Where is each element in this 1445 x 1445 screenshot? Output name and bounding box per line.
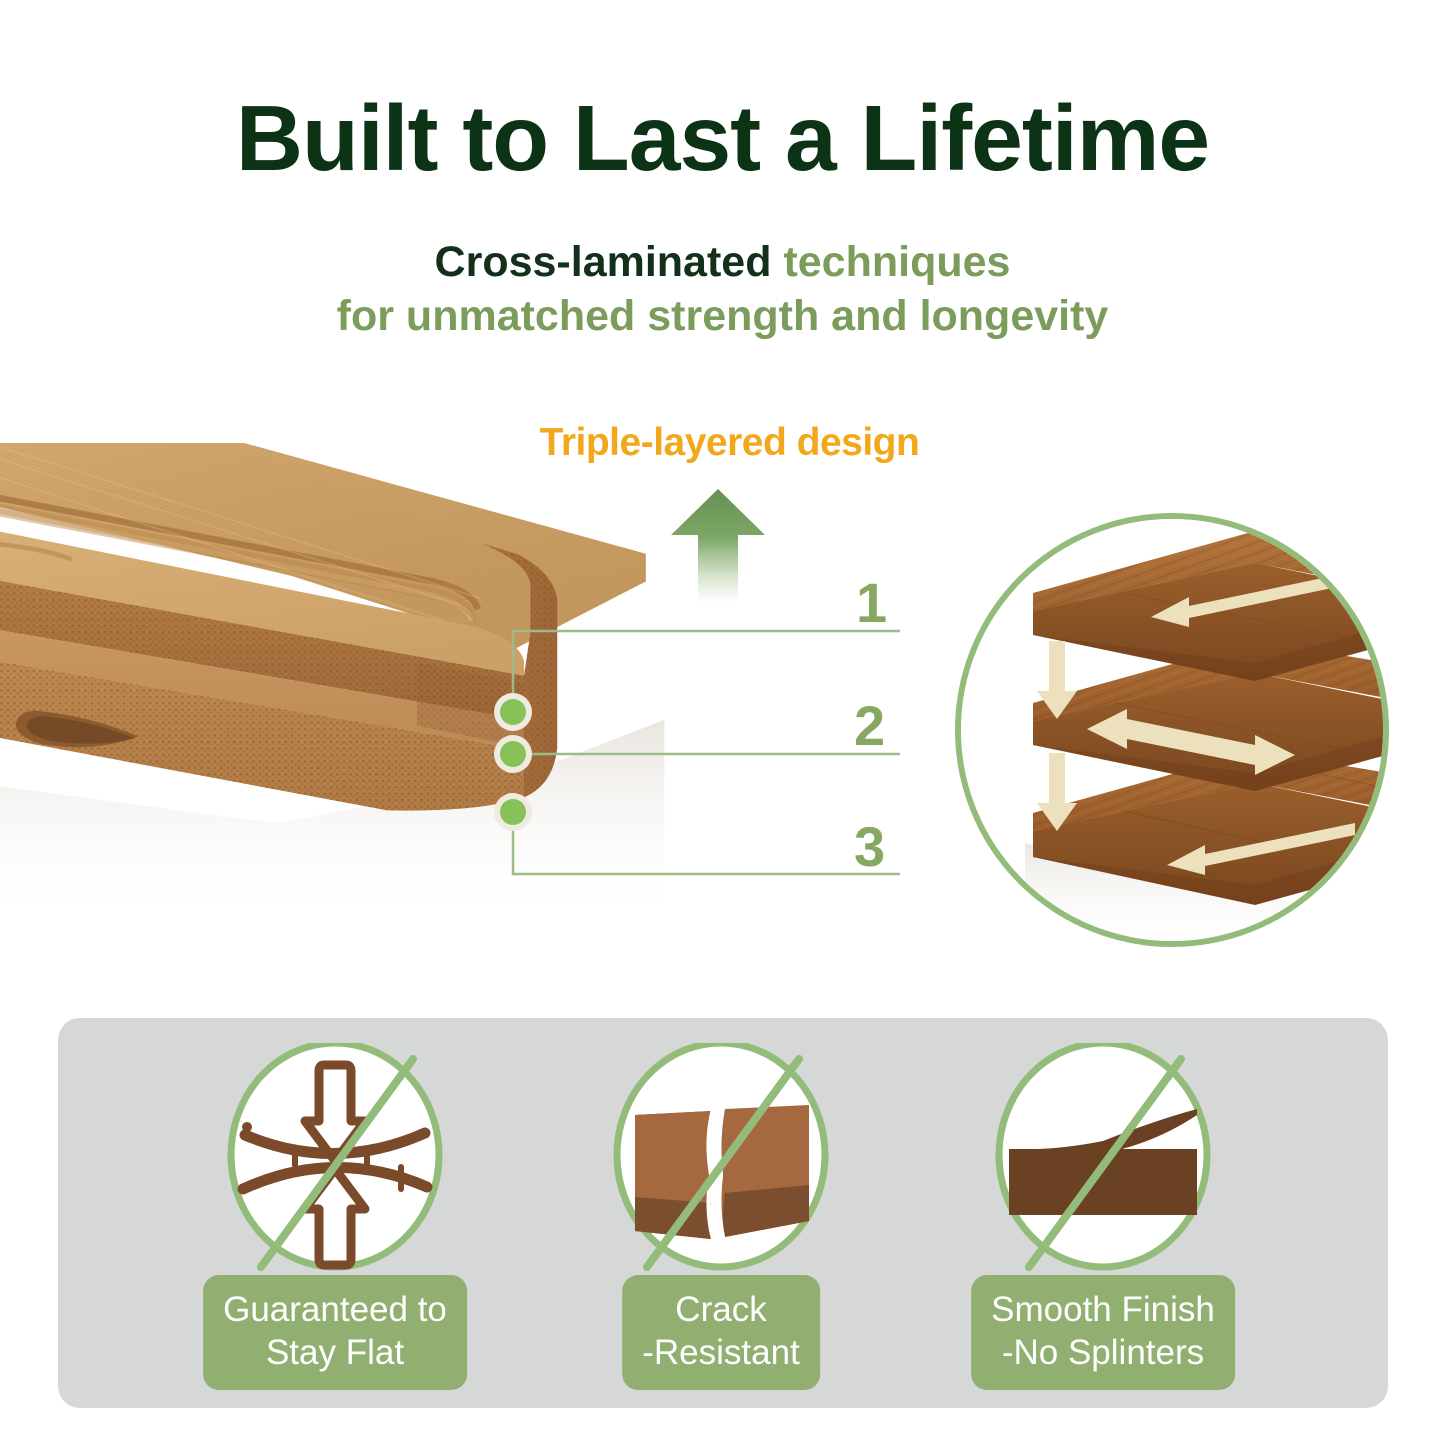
subtitle-soft: techniques [783, 238, 1010, 286]
feature-label-line2: -Resistant [642, 1332, 800, 1375]
splinter-board-icon [983, 1043, 1223, 1295]
page-title: Built to Last a Lifetime [0, 92, 1445, 185]
feature-label-line2: -No Splinters [991, 1332, 1215, 1375]
feature-crack-resistant[interactable]: Crack -Resistant [556, 1043, 886, 1388]
cracked-board-icon [601, 1043, 841, 1295]
feature-label-smooth-finish: Smooth Finish -No Splinters [971, 1275, 1235, 1390]
callout-dots [494, 693, 532, 831]
callout-leader-lines [0, 440, 950, 910]
feature-label-line2: Stay Flat [223, 1332, 447, 1375]
feature-label-line1: Smooth Finish [991, 1290, 1215, 1329]
feature-guaranteed-flat[interactable]: Guaranteed to Stay Flat [170, 1043, 500, 1388]
warp-board-icon [215, 1043, 455, 1295]
callout-number-1: 1 [856, 575, 887, 631]
layered-construction-inset [955, 513, 1389, 947]
feature-label-line1: Guaranteed to [223, 1290, 447, 1329]
feature-smooth-finish[interactable]: Smooth Finish -No Splinters [938, 1043, 1268, 1388]
feature-label-guaranteed-flat: Guaranteed to Stay Flat [203, 1275, 467, 1390]
feature-label-crack-resistant: Crack -Resistant [622, 1275, 820, 1390]
callout-number-2: 2 [854, 698, 885, 754]
subtitle-strong: Cross-laminated [435, 238, 772, 286]
infographic-canvas: Built to Last a Lifetime Cross-laminated… [0, 0, 1445, 1445]
subtitle-line-2: for unmatched strength and longevity [0, 295, 1445, 338]
callout-number-3: 3 [854, 819, 885, 875]
feature-label-line1: Crack [675, 1290, 766, 1329]
subtitle-line-1: Cross-laminated techniques [0, 241, 1445, 284]
